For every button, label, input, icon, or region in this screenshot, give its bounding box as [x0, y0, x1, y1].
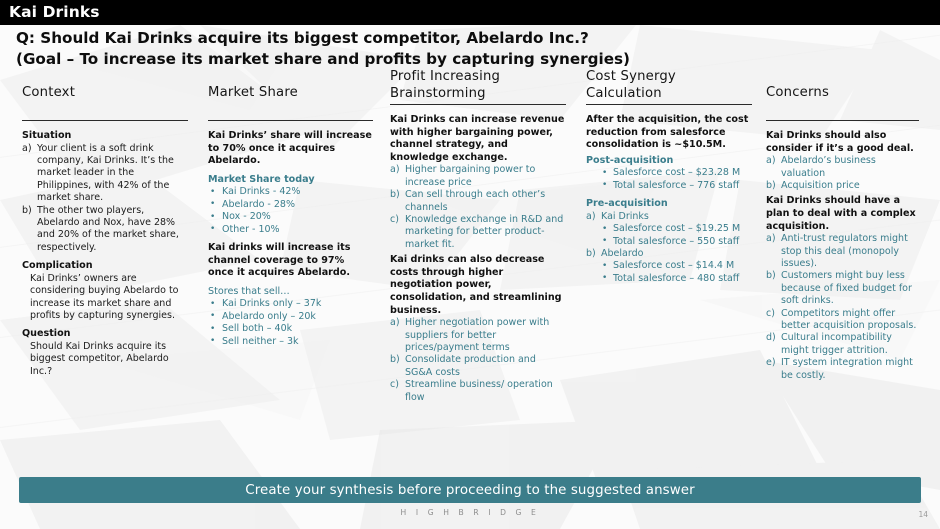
- list-text: Competitors might offer better acquisiti…: [781, 308, 916, 331]
- column-header-context: Context: [22, 84, 188, 118]
- concerns-statement-2: Kai Drinks should have a plan to deal wi…: [766, 195, 919, 233]
- list-marker: a): [766, 233, 776, 245]
- list-item: b) Customers might buy less because of f…: [766, 270, 919, 307]
- pre-acquisition-kai-list: Salesforce cost – $19.25 M Total salesfo…: [599, 223, 752, 248]
- question-line-1: Q: Should Kai Drinks acquire its biggest…: [16, 28, 716, 49]
- page-number: 14: [918, 510, 928, 519]
- pre-acquisition-label: Pre-acquisition: [586, 198, 752, 211]
- situation-list: a) Your client is a soft drink company, …: [22, 143, 188, 255]
- list-item: d) Cultural incompatibility might trigge…: [766, 332, 919, 357]
- profit-list-2: a) Higher negotiation power with supplie…: [390, 317, 566, 404]
- list-marker: a): [390, 164, 400, 176]
- pre-acquisition-groups: a) Kai Drinks: [586, 211, 752, 223]
- list-item: b) Acquisition price: [766, 180, 919, 192]
- question-text: Should Kai Drinks acquire its biggest co…: [22, 341, 188, 378]
- footer-brand: H I G H B R I D G E: [0, 508, 940, 517]
- list-item: a) Anti-trust regulators might stop this…: [766, 233, 919, 270]
- market-share-statement-1: Kai Drinks’ share will increase to 70% o…: [208, 130, 373, 168]
- concerns-list-2: a) Anti-trust regulators might stop this…: [766, 233, 919, 382]
- list-text: The other two players, Abelardo and Nox,…: [37, 205, 179, 253]
- list-text: Knowledge exchange in R&D and marketing …: [405, 214, 563, 250]
- list-item: a) Kai Drinks: [586, 211, 752, 223]
- column-header-market-share: Market Share: [208, 84, 373, 118]
- market-share-today-label: Market Share today: [208, 174, 373, 187]
- list-item: Nox - 20%: [208, 211, 373, 223]
- cta-banner: Create your synthesis before proceeding …: [19, 477, 921, 503]
- list-item: Other - 10%: [208, 224, 373, 236]
- list-item: Sell both – 40k: [208, 323, 373, 335]
- list-text: Streamline business/ operation flow: [405, 379, 553, 402]
- column-header-profit: Profit Increasing Brainstorming: [390, 68, 566, 102]
- list-marker: b): [586, 248, 596, 260]
- list-item: Kai Drinks - 42%: [208, 186, 373, 198]
- list-text: Higher bargaining power to increase pric…: [405, 164, 535, 187]
- column-market-share: Market Share Kai Drinks’ share will incr…: [208, 84, 373, 348]
- list-item: c) Competitors might offer better acquis…: [766, 308, 919, 333]
- list-item: c) Streamline business/ operation flow: [390, 379, 566, 404]
- list-item: Salesforce cost – $23.28 M: [599, 167, 752, 179]
- cta-text: Create your synthesis before proceeding …: [245, 483, 694, 498]
- column-rule-concerns: [766, 120, 919, 121]
- list-text: IT system integration might be costly.: [781, 357, 913, 380]
- list-item: Total salesforce – 480 staff: [599, 273, 752, 285]
- list-marker: c): [390, 214, 399, 226]
- list-item: a) Abelardo’s business valuation: [766, 155, 919, 180]
- complication-label: Complication: [22, 260, 188, 273]
- column-rule-market-share: [208, 120, 373, 121]
- list-marker: a): [766, 155, 776, 167]
- list-item: c) Knowledge exchange in R&D and marketi…: [390, 214, 566, 251]
- list-item: b) Consolidate production and SG&A costs: [390, 354, 566, 379]
- list-marker: a): [586, 211, 596, 223]
- list-item: a) Your client is a soft drink company, …: [22, 143, 188, 205]
- content-columns: Context Situation a) Your client is a so…: [0, 84, 940, 474]
- column-rule-cost-synergy: [586, 104, 752, 105]
- list-item: Kai Drinks only – 37k: [208, 298, 373, 310]
- pre-acquisition-groups-2: b) Abelardo: [586, 248, 752, 260]
- concerns-statement-1: Kai Drinks should also consider if it’s …: [766, 130, 919, 155]
- profit-list-1: a) Higher bargaining power to increase p…: [390, 164, 566, 251]
- list-item: Sell neither – 3k: [208, 336, 373, 348]
- column-title-cost-synergy-line-2: Calculation: [586, 85, 752, 102]
- column-concerns: Concerns Kai Drinks should also consider…: [766, 84, 919, 382]
- column-rule-profit: [390, 104, 566, 105]
- slide-title-bar: Kai Drinks: [0, 0, 940, 25]
- list-marker: d): [766, 332, 776, 344]
- list-text: Abelardo’s business valuation: [781, 155, 876, 178]
- market-share-statement-2: Kai drinks will increase its channel cov…: [208, 242, 373, 280]
- list-item: a) Higher negotiation power with supplie…: [390, 317, 566, 354]
- list-item: Abelardo only – 20k: [208, 311, 373, 323]
- column-title-context: Context: [22, 84, 188, 101]
- post-acquisition-list: Salesforce cost – $23.28 M Total salesfo…: [599, 167, 752, 192]
- list-item: Abelardo - 28%: [208, 199, 373, 211]
- column-title-cost-synergy-line-1: Cost Synergy: [586, 68, 752, 85]
- list-marker: c): [390, 379, 399, 391]
- list-item: Salesforce cost – $19.25 M: [599, 223, 752, 235]
- list-text: Anti-trust regulators might stop this de…: [781, 233, 908, 269]
- complication-text: Kai Drinks’ owners are considering buyin…: [22, 273, 188, 323]
- stores-label: Stores that sell…: [208, 286, 373, 299]
- column-context: Context Situation a) Your client is a so…: [22, 84, 188, 378]
- list-text: Kai Drinks: [601, 211, 649, 222]
- list-item: Total salesforce – 776 staff: [599, 180, 752, 192]
- list-item: Total salesforce – 550 staff: [599, 236, 752, 248]
- list-text: Acquisition price: [781, 180, 860, 191]
- list-text: Customers might buy less because of fixe…: [781, 270, 912, 306]
- question-block: Q: Should Kai Drinks acquire its biggest…: [16, 28, 716, 70]
- list-item: a) Higher bargaining power to increase p…: [390, 164, 566, 189]
- column-header-cost-synergy: Cost Synergy Calculation: [586, 68, 752, 102]
- list-text: Consolidate production and SG&A costs: [405, 354, 536, 377]
- column-rule-context: [22, 120, 188, 121]
- column-cost-synergy: Cost Synergy Calculation After the acqui…: [586, 68, 752, 285]
- column-profit-brainstorming: Profit Increasing Brainstorming Kai Drin…: [390, 68, 566, 404]
- list-marker: a): [22, 143, 32, 155]
- post-acquisition-label: Post-acquisition: [586, 155, 752, 168]
- list-text: Cultural incompatibility might trigger a…: [781, 332, 892, 355]
- question-line-2: (Goal – To increase its market share and…: [16, 49, 716, 70]
- list-marker: b): [22, 205, 32, 217]
- list-item: Salesforce cost – $14.4 M: [599, 260, 752, 272]
- list-marker: e): [766, 357, 776, 369]
- list-text: Can sell through each other’s channels: [405, 189, 545, 212]
- list-text: Higher negotiation power with suppliers …: [405, 317, 549, 353]
- list-marker: b): [390, 354, 400, 366]
- column-title-market-share: Market Share: [208, 84, 373, 101]
- situation-label: Situation: [22, 130, 188, 143]
- profit-statement-2: Kai drinks can also decrease costs throu…: [390, 254, 566, 317]
- list-text: Abelardo: [601, 248, 643, 259]
- profit-statement-1: Kai Drinks can increase revenue with hig…: [390, 114, 566, 164]
- list-marker: b): [766, 270, 776, 282]
- list-text: Your client is a soft drink company, Kai…: [37, 143, 174, 204]
- pre-acquisition-abelardo-list: Salesforce cost – $14.4 M Total salesfor…: [599, 260, 752, 285]
- list-marker: c): [766, 308, 775, 320]
- column-header-concerns: Concerns: [766, 84, 919, 118]
- stores-list: Kai Drinks only – 37k Abelardo only – 20…: [208, 298, 373, 348]
- page-title: Kai Drinks: [9, 3, 100, 21]
- list-item: e) IT system integration might be costly…: [766, 357, 919, 382]
- column-title-profit-line-1: Profit Increasing: [390, 68, 566, 85]
- list-item: b) Can sell through each other’s channel…: [390, 189, 566, 214]
- column-title-concerns: Concerns: [766, 84, 919, 101]
- list-marker: a): [390, 317, 400, 329]
- column-title-profit-line-2: Brainstorming: [390, 85, 566, 102]
- list-item: b) The other two players, Abelardo and N…: [22, 205, 188, 255]
- concerns-list-1: a) Abelardo’s business valuation b) Acqu…: [766, 155, 919, 192]
- list-marker: b): [390, 189, 400, 201]
- cost-synergy-statement-1: After the acquisition, the cost reductio…: [586, 114, 752, 152]
- question-label: Question: [22, 328, 188, 341]
- list-marker: b): [766, 180, 776, 192]
- list-item: b) Abelardo: [586, 248, 752, 260]
- market-share-today-list: Kai Drinks - 42% Abelardo - 28% Nox - 20…: [208, 186, 373, 236]
